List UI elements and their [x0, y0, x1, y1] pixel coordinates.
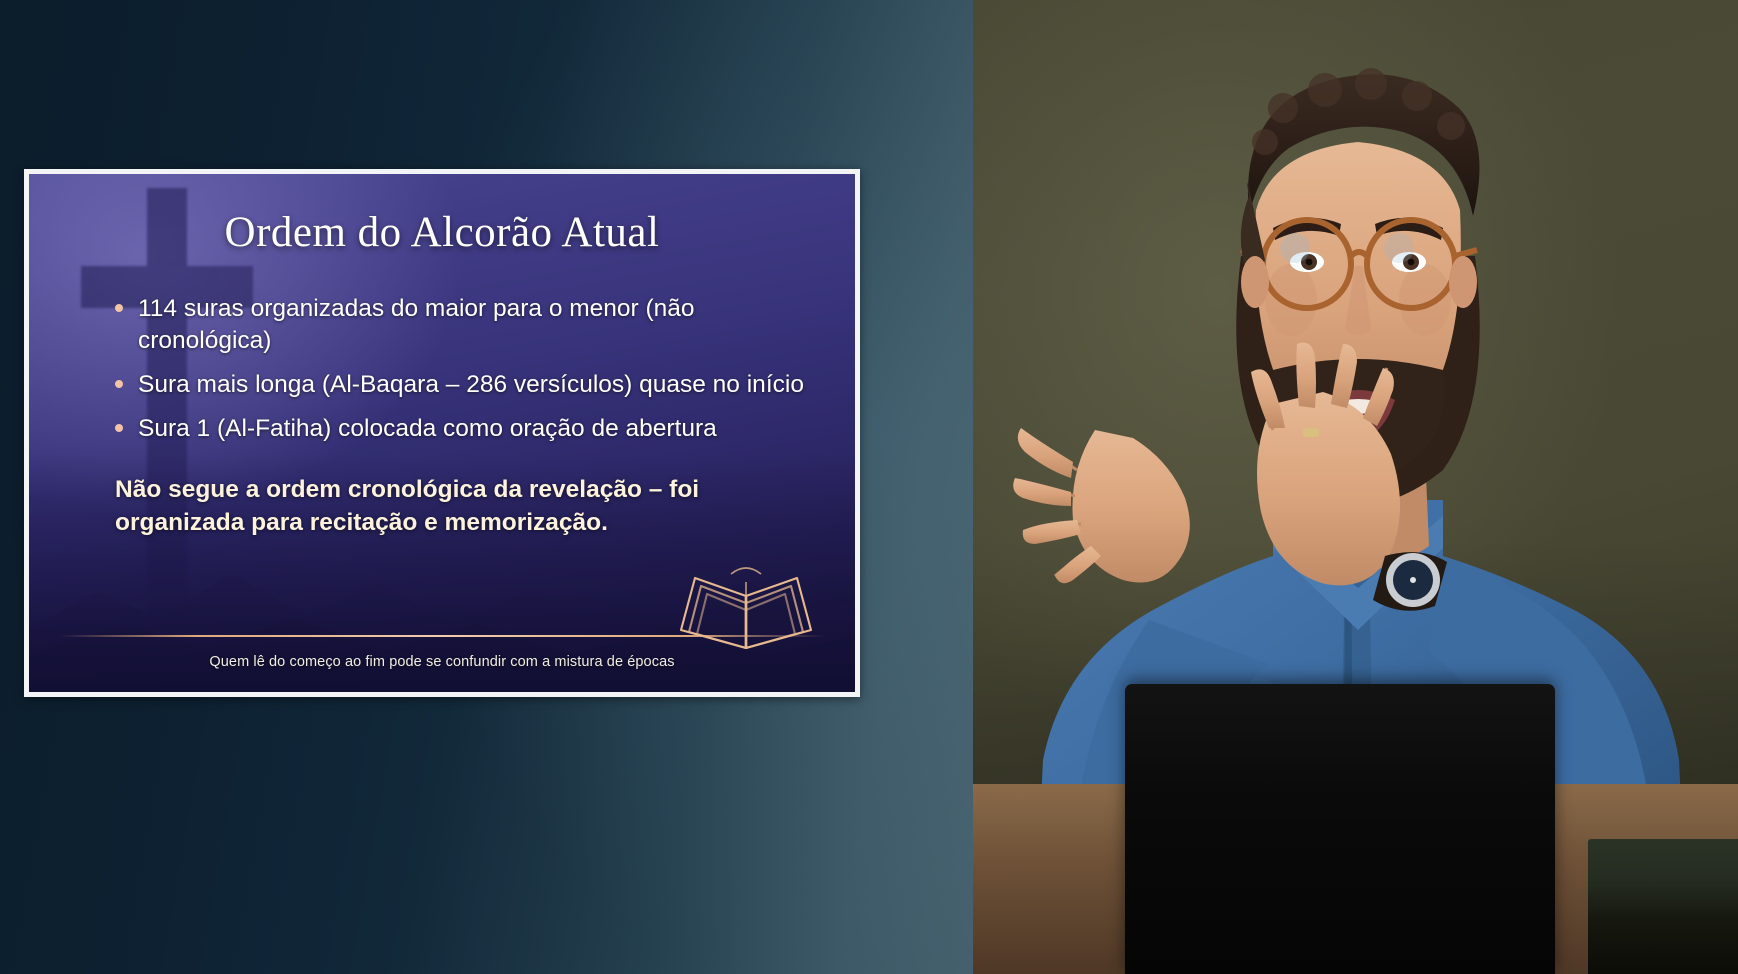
slide-bullet-list: 114 suras organizadas do maior para o me…: [59, 293, 825, 444]
list-item: 114 suras organizadas do maior para o me…: [115, 293, 815, 357]
bullet-dot-icon: [115, 380, 123, 388]
slide-emphasis-text: Não segue a ordem cronológica da revelaç…: [59, 474, 759, 540]
presentation-slide: Ordem do Alcorão Atual 114 suras organiz…: [29, 174, 855, 692]
book-stack: [1588, 839, 1738, 974]
bullet-dot-icon: [115, 304, 123, 312]
laptop: [1125, 684, 1555, 974]
presenter-video-panel: [973, 0, 1738, 974]
list-item: Sura mais longa (Al-Baqara – 286 versícu…: [115, 369, 815, 401]
list-item: Sura 1 (Al-Fatiha) colocada como oração …: [115, 413, 815, 445]
list-item-text: Sura mais longa (Al-Baqara – 286 versícu…: [138, 371, 804, 398]
list-item-text: 114 suras organizadas do maior para o me…: [138, 295, 695, 354]
list-item-text: Sura 1 (Al-Fatiha) colocada como oração …: [138, 415, 717, 442]
slide-title: Ordem do Alcorão Atual: [59, 208, 825, 257]
bullet-dot-icon: [115, 424, 123, 432]
open-book-icon: [661, 560, 831, 660]
slide-frame: Ordem do Alcorão Atual 114 suras organiz…: [24, 169, 860, 697]
